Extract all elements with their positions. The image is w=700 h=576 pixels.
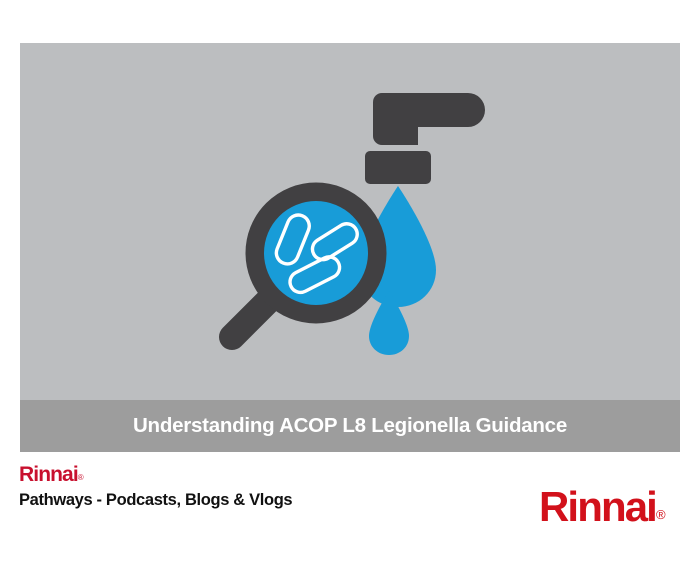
slide-title-band: Understanding ACOP L8 Legionella Guidanc… [20, 400, 680, 452]
registered-trademark-small: ® [78, 473, 83, 482]
rinnai-logo-large: Rinnai® [539, 486, 664, 528]
page-title: Understanding ACOP L8 Legionella Guidanc… [133, 416, 567, 437]
rinnai-logo-small: Rinnai® [19, 464, 292, 485]
rinnai-logo-large-inner: Rinnai® [539, 486, 664, 528]
footer-tagline: Pathways - Podcasts, Blogs & Vlogs [19, 492, 292, 509]
registered-trademark-large: ® [656, 507, 664, 522]
artwork-panel [20, 43, 680, 400]
faucet-icon [365, 93, 485, 184]
footer-brand-block: Rinnai® Pathways - Podcasts, Blogs & Vlo… [19, 464, 292, 509]
legionella-tap-magnifier-illustration [210, 85, 490, 355]
magnifier-icon [232, 192, 377, 337]
rinnai-wordmark-small: Rinnai [19, 463, 78, 486]
slide-canvas: Understanding ACOP L8 Legionella Guidanc… [0, 0, 700, 576]
artwork-stage [20, 43, 680, 400]
rinnai-wordmark-large: Rinnai [539, 483, 656, 530]
